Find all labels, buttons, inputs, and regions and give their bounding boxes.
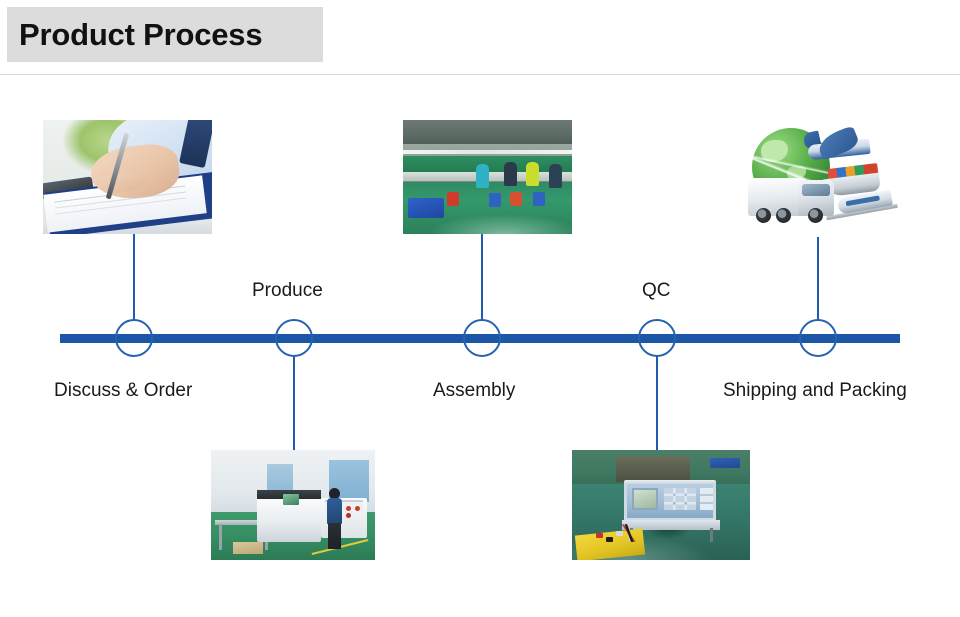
timeline-node-qc[interactable] (638, 319, 676, 357)
blue-crate (408, 198, 444, 218)
timeline-node-produce[interactable] (275, 319, 313, 357)
photo-shipping-packing (738, 118, 900, 237)
test-clip (606, 537, 613, 542)
timeline-label-discuss-order: Discuss & Order (54, 381, 192, 400)
truck-wheel (776, 208, 791, 223)
storage-shelf (616, 456, 690, 482)
photo-discuss-order (43, 120, 212, 234)
test-clip (596, 533, 603, 538)
test-clip (616, 531, 623, 536)
overhead-lamp (403, 150, 572, 154)
stool (447, 192, 459, 206)
assembly-worker (549, 164, 562, 188)
timeline-node-shipping-packing[interactable] (799, 319, 837, 357)
stool (533, 192, 545, 206)
assembly-worker (526, 162, 539, 186)
photo-assembly (403, 120, 572, 234)
timeline-label-produce: Produce (252, 281, 323, 300)
connector-shipping-packing (817, 237, 819, 320)
instrument-display (632, 488, 658, 510)
assembly-worker (476, 164, 489, 188)
assembly-worker (504, 162, 517, 186)
truck-windshield (802, 184, 830, 196)
stool (489, 193, 501, 207)
photo-produce (211, 450, 375, 560)
machine-screen (283, 494, 299, 505)
carton-box (233, 542, 263, 554)
factory-ceiling (403, 120, 572, 146)
product-process-timeline: Discuss & Order Produce Assembly (0, 0, 960, 617)
instrument-side-keys (700, 488, 713, 510)
timeline-node-discuss-order[interactable] (115, 319, 153, 357)
truck-wheel (756, 208, 771, 223)
connector-assembly (481, 234, 483, 320)
stool (510, 192, 522, 206)
timeline-node-assembly[interactable] (463, 319, 501, 357)
photo-qc (572, 450, 750, 560)
table-leg (219, 524, 222, 550)
timeline-label-shipping-packing: Shipping and Packing (723, 381, 907, 400)
connector-produce (293, 356, 295, 452)
truck-wheel (808, 208, 823, 223)
blue-bin (710, 458, 740, 468)
connector-discuss-order (133, 234, 135, 320)
timeline-label-assembly: Assembly (433, 381, 515, 400)
timeline-label-qc: QC (642, 281, 671, 300)
instrument-keypad (664, 488, 696, 510)
worker-torso (327, 498, 342, 524)
worker-legs (328, 523, 341, 549)
connector-qc (656, 356, 658, 452)
instrument-stand-leg (710, 528, 713, 542)
